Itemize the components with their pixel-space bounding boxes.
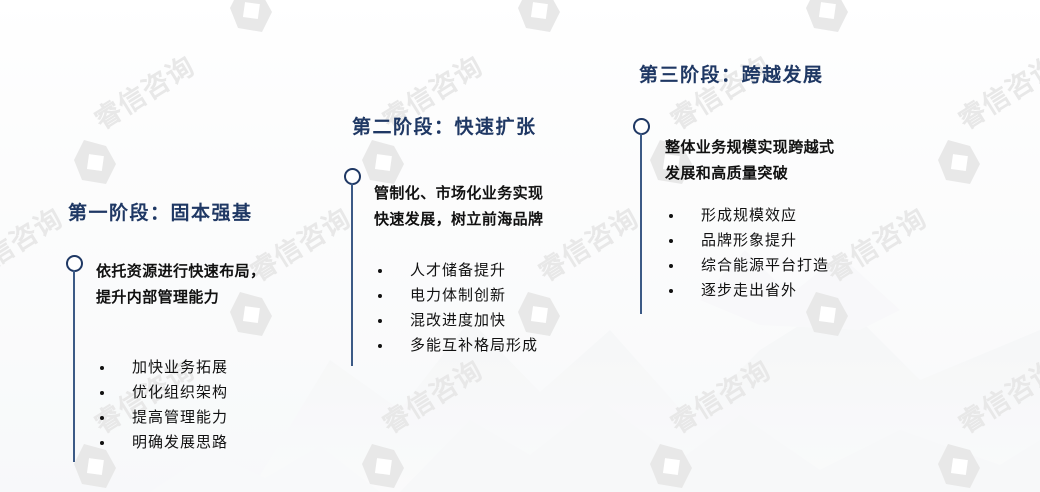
ruixin-logo-mark-icon bbox=[936, 442, 982, 492]
ruixin-logo-mark-icon bbox=[516, 0, 562, 36]
watermark-text: 睿信咨询 bbox=[817, 197, 933, 289]
watermark-text: 睿信咨询 bbox=[949, 349, 1040, 441]
watermark-unit: 睿信咨询 bbox=[516, 0, 726, 60]
stage-summary-2: 管制化、市场化业务实现 快速发展，树立前海品牌 bbox=[374, 180, 543, 232]
watermark-unit: 睿信咨询 bbox=[72, 92, 282, 212]
stage-summary-line: 提升内部管理能力 bbox=[96, 284, 265, 310]
list-item: 加快业务拓展 bbox=[98, 355, 228, 380]
stage-summary-line: 快速发展，树立前海品牌 bbox=[374, 206, 543, 232]
watermark-unit: 睿信咨询 bbox=[648, 396, 858, 492]
list-item: 混改进度加快 bbox=[376, 308, 538, 333]
stage-bullets-2: 人才储备提升 电力体制创新 混改进度加快 多能互补格局形成 bbox=[376, 258, 538, 358]
watermark-text: 睿信咨询 bbox=[85, 45, 201, 137]
stage-summary-line: 整体业务规模实现跨越式 bbox=[665, 134, 834, 160]
stage-title-2: 第二阶段：快速扩张 bbox=[352, 112, 537, 139]
list-item: 综合能源平台打造 bbox=[667, 253, 829, 278]
list-item: 人才储备提升 bbox=[376, 258, 538, 283]
timeline-axis-3 bbox=[640, 133, 642, 314]
watermark-unit: 睿信咨询 bbox=[804, 0, 1014, 60]
timeline-axis-1 bbox=[73, 270, 75, 462]
watermark-unit: 睿信咨询 bbox=[360, 396, 570, 492]
stage-summary-3: 整体业务规模实现跨越式 发展和高质量突破 bbox=[665, 134, 834, 186]
ruixin-logo-mark-icon bbox=[804, 0, 850, 36]
stage-summary-line: 依托资源进行快速布局， bbox=[96, 258, 265, 284]
watermark-text: 睿信咨询 bbox=[529, 197, 645, 289]
watermark-text: 睿信咨询 bbox=[373, 349, 489, 441]
ruixin-logo-mark-icon bbox=[936, 138, 982, 188]
timeline-axis-2 bbox=[351, 183, 353, 366]
list-item: 形成规模效应 bbox=[667, 203, 829, 228]
ruixin-logo-mark-icon bbox=[648, 442, 694, 492]
list-item: 明确发展思路 bbox=[98, 430, 228, 455]
watermark-text: 睿信咨询 bbox=[661, 349, 777, 441]
watermark-text: 睿信咨询 bbox=[661, 45, 777, 137]
ruixin-logo-mark-icon bbox=[360, 442, 406, 492]
list-item: 提高管理能力 bbox=[98, 405, 228, 430]
watermark-unit: 睿信咨询 bbox=[936, 92, 1040, 212]
stage-title-3: 第三阶段：跨越发展 bbox=[639, 60, 824, 87]
stage-summary-line: 发展和高质量突破 bbox=[665, 160, 834, 186]
list-item: 逐步走出省外 bbox=[667, 278, 829, 303]
stage-bullets-1: 加快业务拓展 优化组织架构 提高管理能力 明确发展思路 bbox=[98, 355, 228, 455]
list-item: 优化组织架构 bbox=[98, 380, 228, 405]
stage-title-1: 第一阶段：固本强基 bbox=[68, 198, 253, 225]
watermark-unit: 睿信咨询 bbox=[0, 0, 150, 60]
ruixin-logo-mark-icon bbox=[72, 138, 118, 188]
stage-summary-line: 管制化、市场化业务实现 bbox=[374, 180, 543, 206]
list-item: 电力体制创新 bbox=[376, 283, 538, 308]
watermark-text: 睿信咨询 bbox=[0, 197, 69, 289]
watermark-text: 睿信咨询 bbox=[949, 45, 1040, 137]
stage-bullets-3: 形成规模效应 品牌形象提升 综合能源平台打造 逐步走出省外 bbox=[667, 203, 829, 303]
stage-summary-1: 依托资源进行快速布局， 提升内部管理能力 bbox=[96, 258, 265, 310]
slide-canvas: 睿信咨询睿信咨询睿信咨询睿信咨询睿信咨询睿信咨询睿信咨询睿信咨询睿信咨询睿信咨询… bbox=[0, 0, 1040, 492]
watermark-unit: 睿信咨询 bbox=[228, 0, 438, 60]
list-item: 多能互补格局形成 bbox=[376, 333, 538, 358]
list-item: 品牌形象提升 bbox=[667, 228, 829, 253]
watermark-unit: 睿信咨询 bbox=[804, 244, 1014, 364]
watermark-unit: 睿信咨询 bbox=[936, 396, 1040, 492]
ruixin-logo-mark-icon bbox=[228, 0, 274, 36]
